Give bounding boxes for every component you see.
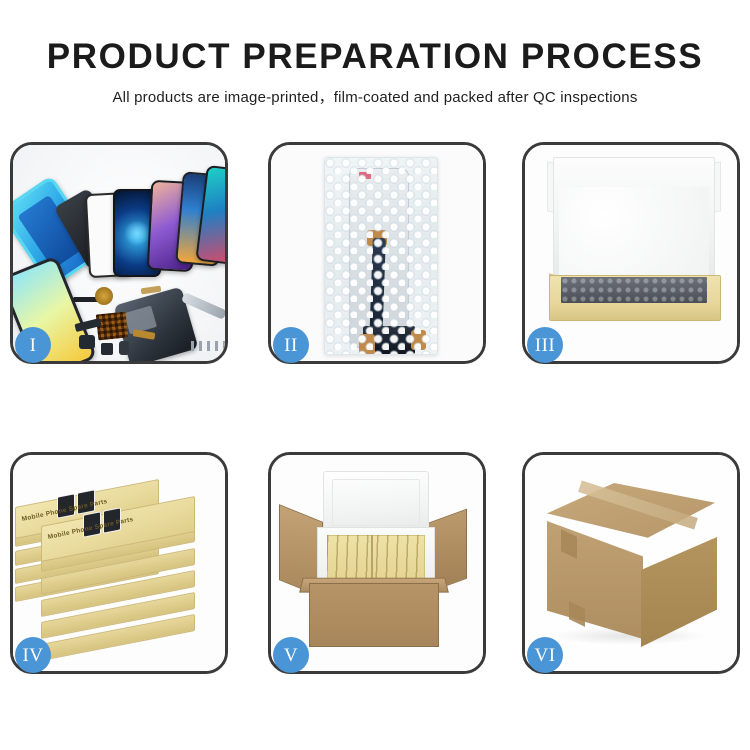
foam-lid-icon <box>323 471 429 535</box>
step-panel-6[interactable]: VI <box>522 452 740 674</box>
step-panel-4[interactable]: Mobile Phone Spare Parts Mobile Phone Sp… <box>10 452 228 674</box>
poster-page: PRODUCT PREPARATION PROCESS All products… <box>0 0 750 750</box>
bubble-texture-icon <box>325 158 437 354</box>
step-2-image <box>271 145 483 361</box>
carton-body-icon <box>309 583 439 647</box>
coil-part-icon <box>95 287 113 305</box>
packed-boxes-edges-icon <box>327 535 423 581</box>
step-panel-1[interactable]: I <box>10 142 228 364</box>
step-5-image <box>271 455 483 671</box>
packed-boxes-divider-icon <box>371 535 373 581</box>
chip-grid-part-icon <box>96 312 129 341</box>
step-panel-5[interactable]: V <box>268 452 486 674</box>
step-badge-1: I <box>15 327 51 363</box>
vibrator-part-icon <box>119 341 129 355</box>
header: PRODUCT PREPARATION PROCESS All products… <box>0 0 750 108</box>
process-step-grid: I II <box>10 142 740 674</box>
step-3-image <box>525 145 737 361</box>
step-4-image: Mobile Phone Spare Parts Mobile Phone Sp… <box>13 455 225 671</box>
ic-chip-part-icon <box>101 343 113 355</box>
camera-module-part-icon <box>79 335 95 349</box>
step-panel-3[interactable]: III <box>522 142 740 364</box>
step-panel-2[interactable]: II <box>268 142 486 364</box>
page-subtitle: All products are image-printed，film-coat… <box>0 78 750 108</box>
step-6-image <box>525 455 737 671</box>
step-badge-4: IV <box>15 637 51 673</box>
retail-box-stack-icon: Mobile Phone Spare Parts Mobile Phone Sp… <box>13 455 225 671</box>
step-badge-5: V <box>273 637 309 673</box>
step-1-image <box>13 145 225 361</box>
page-title: PRODUCT PREPARATION PROCESS <box>0 0 750 78</box>
foam-sheet-icon <box>559 187 709 279</box>
wrapped-screens-icon <box>561 277 707 303</box>
bubble-wrap-bag-icon <box>324 157 438 355</box>
screws-icon <box>191 341 225 351</box>
step-badge-3: III <box>527 327 563 363</box>
step-badge-6: VI <box>527 637 563 673</box>
step-badge-2: II <box>273 327 309 363</box>
